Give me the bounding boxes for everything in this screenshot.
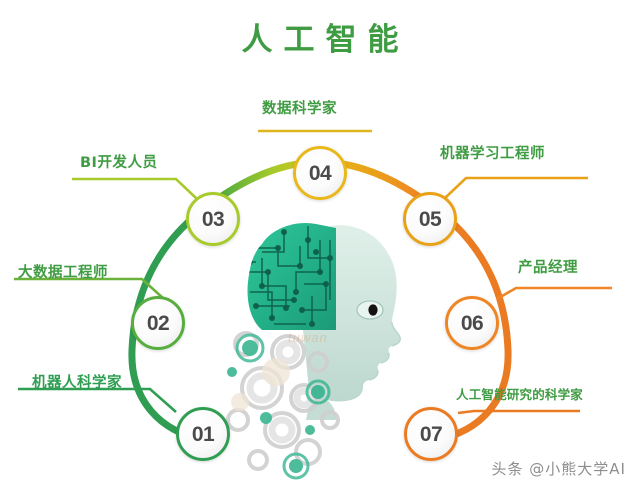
leader-line-03 (72, 179, 196, 198)
node-07-label: 人工智能研究的科学家 (456, 384, 583, 403)
watermark: 头条 @小熊大学AI (492, 458, 626, 479)
leader-line-05 (445, 178, 588, 198)
node-03-label: BI开发人员 (80, 151, 157, 172)
center-watermark: tuwan (288, 330, 328, 345)
node-03[interactable]: 03 (186, 192, 240, 246)
node-07-number: 07 (420, 424, 442, 445)
node-04[interactable]: 04 (293, 146, 347, 200)
node-06[interactable]: 06 (445, 296, 499, 350)
node-06-label: 产品经理 (518, 256, 578, 277)
node-03-number: 03 (202, 209, 224, 230)
leader-line-07 (458, 411, 580, 413)
node-01-number: 01 (192, 424, 214, 445)
node-05[interactable]: 05 (403, 192, 457, 246)
node-01-label: 机器人科学家 (32, 371, 122, 392)
node-06-number: 06 (461, 313, 483, 334)
connector-arcs (0, 0, 640, 491)
node-01[interactable]: 01 (176, 407, 230, 461)
node-04-label: 数据科学家 (262, 97, 337, 118)
node-07[interactable]: 07 (404, 407, 458, 461)
node-02-number: 02 (147, 313, 169, 334)
node-05-number: 05 (419, 209, 441, 230)
leader-line-06 (497, 288, 612, 299)
node-02-label: 大数据工程师 (18, 261, 108, 282)
infographic-canvas: 人工智能 (0, 0, 640, 491)
node-05-label: 机器学习工程师 (440, 142, 545, 163)
node-04-number: 04 (309, 163, 331, 184)
node-02[interactable]: 02 (131, 296, 185, 350)
